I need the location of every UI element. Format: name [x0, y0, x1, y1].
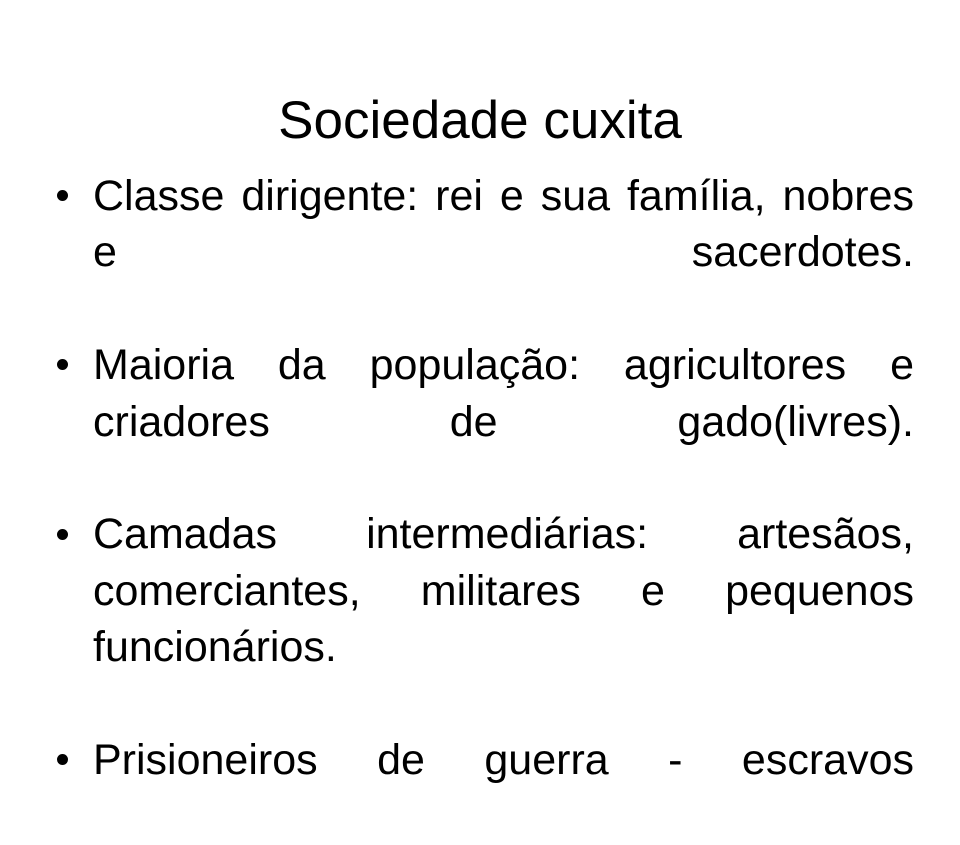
bullet-list: Classe dirigente: rei e sua família, nob…	[48, 168, 914, 845]
list-item: Prisioneiros de guerra - escravos	[48, 732, 914, 845]
list-item-text: Classe dirigente: rei e sua família, nob…	[93, 172, 914, 276]
list-item: Maioria da população: agricultores e cri…	[48, 337, 914, 506]
presentation-slide: Sociedade cuxita Classe dirigente: rei e…	[0, 0, 960, 720]
bullet-point-icon	[57, 506, 83, 562]
list-item-text: Maioria da população: agricultores e cri…	[93, 341, 914, 445]
page-title: Sociedade cuxita	[0, 91, 960, 151]
slide-body: Classe dirigente: rei e sua família, nob…	[48, 168, 914, 845]
list-item-text: Camadas intermediárias: artesãos, comerc…	[93, 510, 914, 671]
list-item: Camadas intermediárias: artesãos, comerc…	[48, 506, 914, 732]
list-item-text: Prisioneiros de guerra - escravos	[93, 736, 914, 784]
list-item: Classe dirigente: rei e sua família, nob…	[48, 168, 914, 337]
bullet-point-icon	[57, 168, 83, 224]
bullet-point-icon	[57, 337, 83, 393]
bullet-point-icon	[57, 732, 83, 788]
